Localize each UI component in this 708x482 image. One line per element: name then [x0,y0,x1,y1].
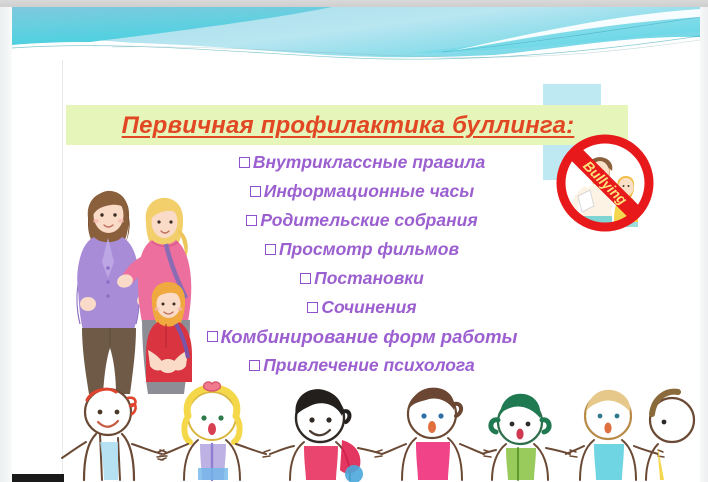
window-left-strip [0,7,12,482]
list-item-label: Информационные часы [264,181,474,202]
no-bullying-icon: Bullying [556,134,654,232]
list-item-label: Внутриклассные правила [253,152,485,173]
list-item-label: Просмотр фильмов [279,239,459,260]
children-holding-hands-drawing [60,382,664,480]
window-top-strip [0,0,708,7]
list-item-label: Родительские собрания [260,210,477,231]
list-item-label: Привлечение психолога [263,355,475,376]
presentation-slide: Первичная профилактика буллинга: Внутрик… [0,0,708,482]
window-right-strip [700,7,708,482]
window-bottom-bar [12,474,64,482]
square-bullet-icon [300,273,311,284]
square-bullet-icon [265,244,276,255]
slide-content: Первичная профилактика буллинга: Внутрик… [62,72,662,478]
list-item-label: Комбинирование форм работы [221,326,518,348]
square-bullet-icon [250,186,261,197]
page-title: Первичная профилактика буллинга: [74,108,622,144]
list-item-label: Постановки [314,268,424,289]
teacher-parent-child-clipart [66,182,194,404]
cyan-wave-banner [12,7,700,69]
square-bullet-icon [307,302,318,313]
list-item-label: Сочинения [321,297,416,318]
square-bullet-icon [249,360,260,371]
square-bullet-icon [207,331,218,342]
square-bullet-icon [246,215,257,226]
square-bullet-icon [239,157,250,168]
